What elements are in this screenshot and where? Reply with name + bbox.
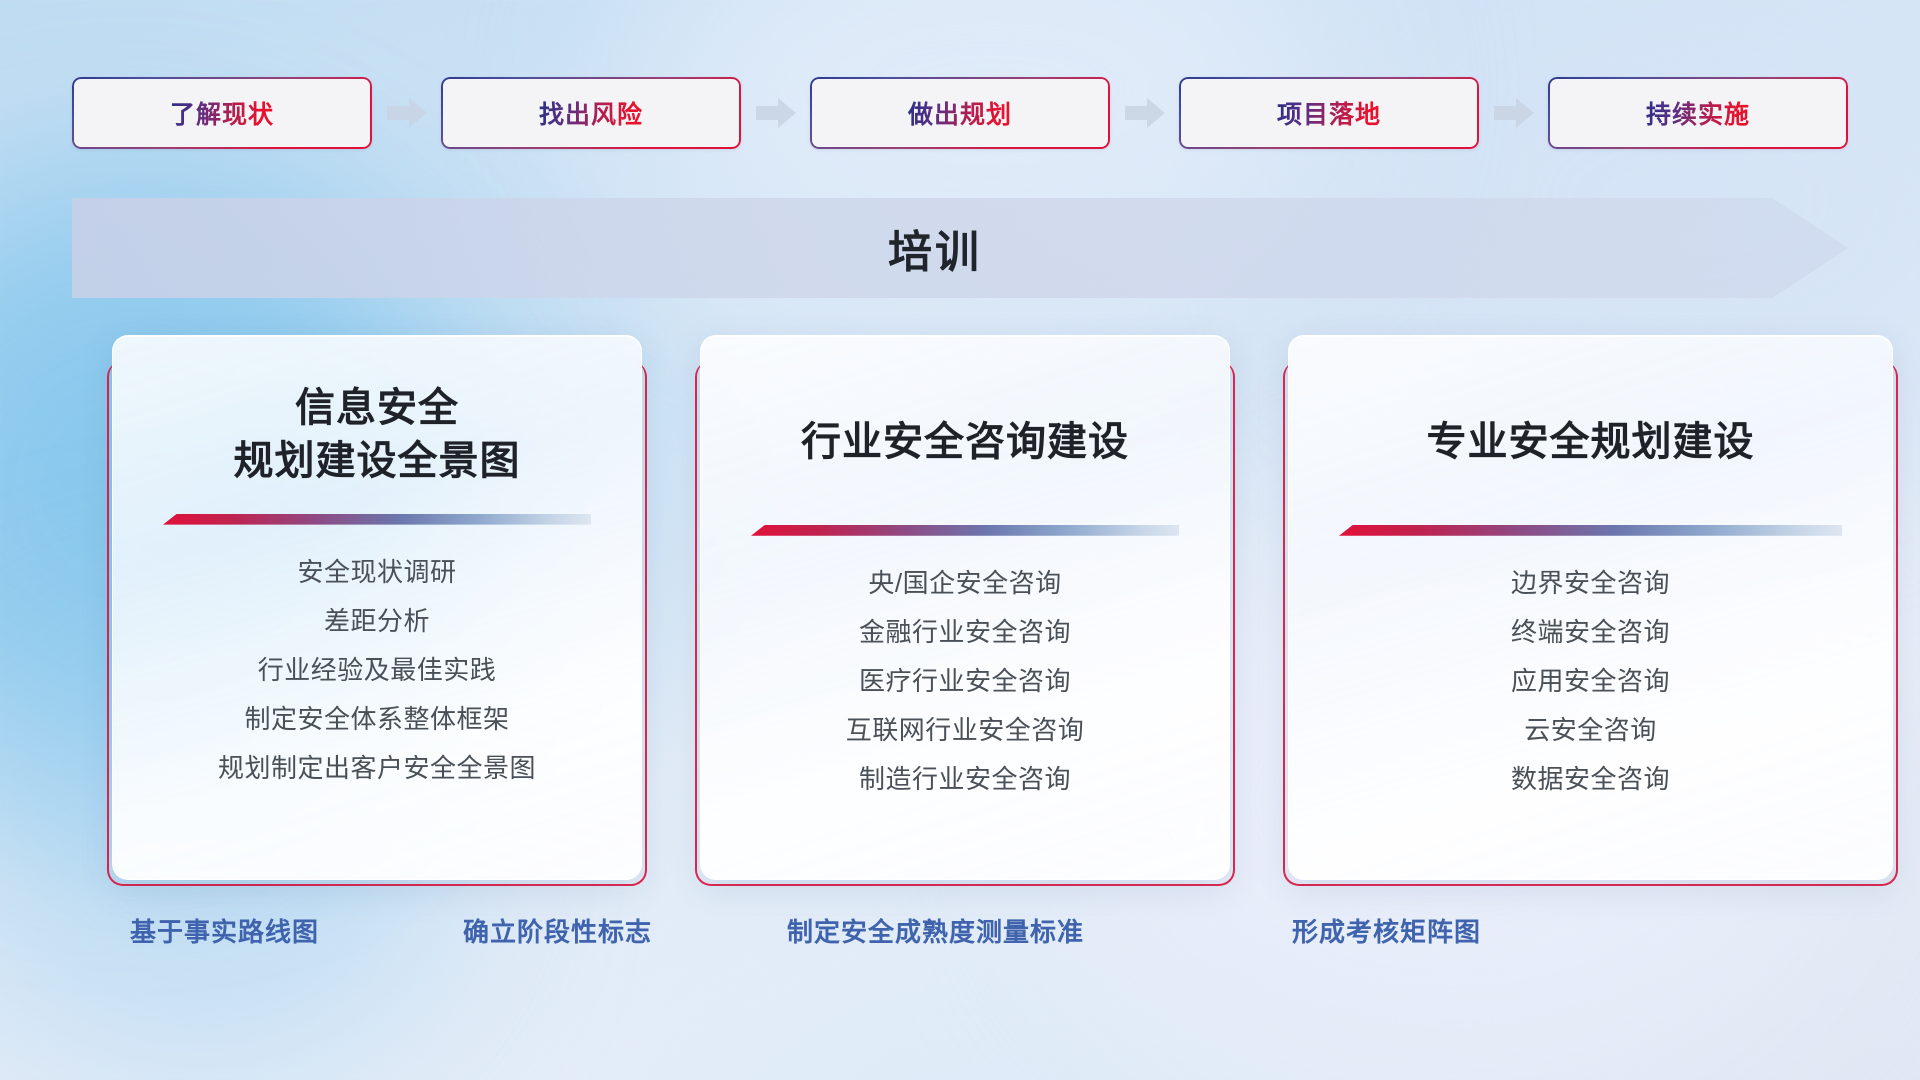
card-list-1: 安全现状调研 差距分析 行业经验及最佳实践 制定安全体系整体框架 规划制定出客户… xyxy=(218,551,536,790)
card-title-2: 行业安全咨询建设 xyxy=(801,416,1129,469)
step-label-2: 找出风险 xyxy=(539,95,643,131)
caption-row: 基于事实路线图 确立阶段性标志 制定安全成熟度测量标准 形成考核矩阵图 xyxy=(0,912,1920,958)
card-divider-3 xyxy=(1339,525,1842,536)
list-item: 云安全咨询 xyxy=(1524,709,1657,751)
caption-1: 基于事实路线图 xyxy=(130,912,319,949)
step-box-3[interactable]: 做出规划 xyxy=(810,77,1110,149)
list-item: 互联网行业安全咨询 xyxy=(846,709,1085,751)
banner-title: 培训 xyxy=(72,198,1848,298)
list-item: 金融行业安全咨询 xyxy=(859,611,1071,653)
caption-2: 确立阶段性标志 xyxy=(463,912,652,949)
list-item: 央/国企安全咨询 xyxy=(868,562,1061,604)
list-item: 规划制定出客户安全全景图 xyxy=(218,747,536,789)
step-label-4: 项目落地 xyxy=(1277,95,1381,131)
card-list-2: 央/国企安全咨询 金融行业安全咨询 医疗行业安全咨询 互联网行业安全咨询 制造行… xyxy=(846,562,1085,801)
card-title-3: 专业安全规划建设 xyxy=(1427,416,1755,469)
card-divider-1 xyxy=(163,514,591,525)
list-item: 差距分析 xyxy=(324,600,430,642)
card-title-1: 信息安全 规划建设全景图 xyxy=(234,382,521,488)
list-item: 终端安全咨询 xyxy=(1511,611,1670,653)
step-box-4[interactable]: 项目落地 xyxy=(1179,77,1479,149)
feature-card-2[interactable]: 行业安全咨询建设 央/国企安全咨询 金融行业安全咨询 医疗行业安全咨询 互联网行… xyxy=(700,335,1230,880)
step-label-5: 持续实施 xyxy=(1646,95,1750,131)
card-list-3: 边界安全咨询 终端安全咨询 应用安全咨询 云安全咨询 数据安全咨询 xyxy=(1511,562,1670,801)
step-arrow-icon-1 xyxy=(387,96,427,130)
feature-card-row: 信息安全 规划建设全景图 安全现状调研 差距分析 行业经验及最佳实践 制定安全体… xyxy=(0,335,1920,880)
card-divider-2 xyxy=(751,525,1179,536)
list-item: 安全现状调研 xyxy=(297,551,456,593)
list-item: 制造行业安全咨询 xyxy=(859,758,1071,800)
list-item: 应用安全咨询 xyxy=(1511,660,1670,702)
list-item: 医疗行业安全咨询 xyxy=(859,660,1071,702)
list-item: 数据安全咨询 xyxy=(1511,758,1670,800)
step-box-2[interactable]: 找出风险 xyxy=(441,77,741,149)
step-label-3: 做出规划 xyxy=(908,95,1012,131)
card-slot-3: 专业安全规划建设 边界安全咨询 终端安全咨询 应用安全咨询 云安全咨询 数据安全… xyxy=(1288,335,1893,880)
step-box-1[interactable]: 了解现状 xyxy=(72,77,372,149)
step-arrow-icon-2 xyxy=(756,96,796,130)
list-item: 行业经验及最佳实践 xyxy=(258,649,497,691)
card-slot-1: 信息安全 规划建设全景图 安全现状调研 差距分析 行业经验及最佳实践 制定安全体… xyxy=(112,335,642,880)
caption-4: 形成考核矩阵图 xyxy=(1292,912,1481,949)
list-item: 边界安全咨询 xyxy=(1511,562,1670,604)
training-banner: 培训 xyxy=(72,198,1848,298)
feature-card-3[interactable]: 专业安全规划建设 边界安全咨询 终端安全咨询 应用安全咨询 云安全咨询 数据安全… xyxy=(1288,335,1893,880)
process-step-row: 了解现状 找出风险 做出规划 项目落地 持续实施 xyxy=(72,77,1848,149)
step-arrow-icon-4 xyxy=(1494,96,1534,130)
step-label-1: 了解现状 xyxy=(170,95,274,131)
feature-card-1[interactable]: 信息安全 规划建设全景图 安全现状调研 差距分析 行业经验及最佳实践 制定安全体… xyxy=(112,335,642,880)
caption-3: 制定安全成熟度测量标准 xyxy=(787,912,1084,949)
step-box-5[interactable]: 持续实施 xyxy=(1548,77,1848,149)
step-arrow-icon-3 xyxy=(1125,96,1165,130)
card-slot-2: 行业安全咨询建设 央/国企安全咨询 金融行业安全咨询 医疗行业安全咨询 互联网行… xyxy=(700,335,1230,880)
list-item: 制定安全体系整体框架 xyxy=(244,698,509,740)
